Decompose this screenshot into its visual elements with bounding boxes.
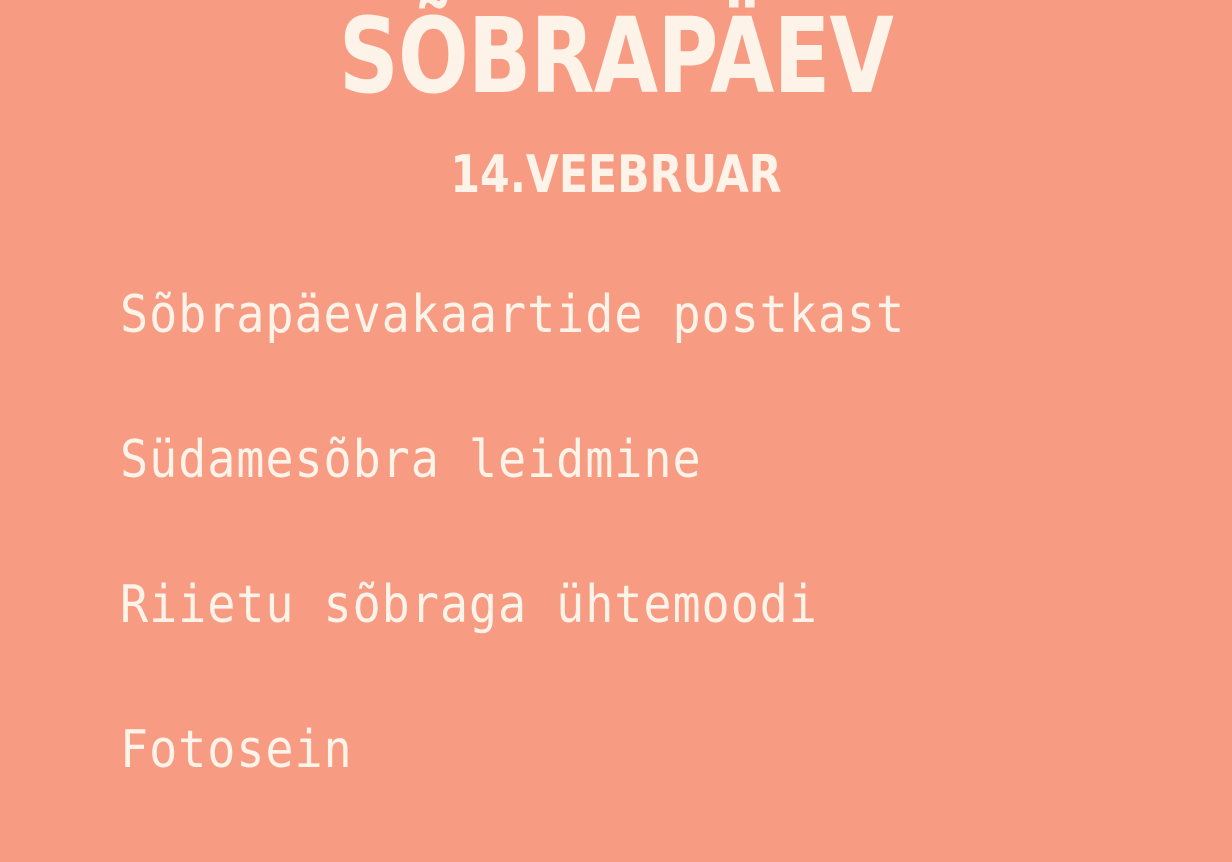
activity-label: Fotosein [120, 720, 353, 780]
activity-label: Riietu sõbraga ühtemoodi [120, 575, 818, 635]
list-item: Südamesõbra leidmine [120, 427, 1074, 572]
list-item: Riietu sõbraga ühtemoodi [120, 572, 1074, 717]
activity-label: Südamesõbra leidmine [120, 430, 702, 490]
list-item: Fotosein [120, 717, 1074, 862]
page-title: SÕBRAPÄEV [123, 0, 1109, 112]
activity-list: Sõbrapäevakaartide postkast Südamesõbra … [120, 282, 1180, 862]
list-item: Sõbrapäevakaartide postkast [120, 282, 1074, 427]
activity-label: Sõbrapäevakaartide postkast [120, 285, 905, 345]
poster-canvas: SÕBRAPÄEV 14.VEEBRUAR Sõbrapäevakaartide… [0, 0, 1232, 821]
event-date-subtitle: 14.VEEBRUAR [111, 146, 1121, 204]
